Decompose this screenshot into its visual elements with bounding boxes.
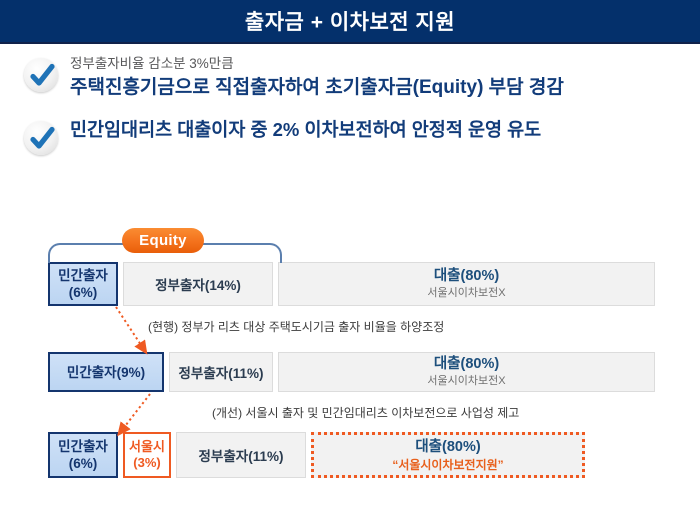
cell-label: 정부출자(11%) bbox=[199, 445, 284, 465]
cell-value: (6%) bbox=[69, 284, 98, 301]
cell-label: 정부출자(14%) bbox=[155, 274, 241, 294]
bullet-text-2: 민간임대리츠 대출이자 중 2% 이차보전하여 안정적 운영 유도 bbox=[62, 115, 541, 143]
cell-label: 서울시 bbox=[129, 439, 165, 455]
cell-loan-supported: 대출(80%) “서울시이차보전지원” bbox=[311, 432, 585, 478]
loan-subtitle: 서울시이차보전X bbox=[427, 374, 505, 389]
cell-government-investment: 정부출자(14%) bbox=[123, 262, 273, 306]
slide-header: 출자금 + 이차보전 지원 bbox=[0, 0, 700, 44]
table-row: 민간출자(9%) 정부출자(11%) 대출(80%) 서울시이차보전X bbox=[48, 352, 660, 392]
cell-seoul-city-investment: 서울시 (3%) bbox=[123, 432, 171, 478]
table-row: 민간출자 (6%) 서울시 (3%) 정부출자(11%) 대출(80%) “서울… bbox=[48, 432, 590, 478]
page-title: 출자금 + 이차보전 지원 bbox=[245, 6, 455, 36]
cell-government-investment: 정부출자(11%) bbox=[176, 432, 306, 478]
check-circle-icon bbox=[22, 119, 62, 159]
cell-private-investment: 민간출자(9%) bbox=[48, 352, 164, 392]
bullet-item-1: 정부출자비율 감소분 3%만큼 주택진흥기금으로 직접출자하여 초기출자금(Eq… bbox=[0, 52, 700, 101]
bullet-item-2: 민간임대리츠 대출이자 중 2% 이차보전하여 안정적 운영 유도 bbox=[0, 115, 700, 159]
cell-value: (6%) bbox=[69, 455, 98, 472]
loan-title: 대출(80%) bbox=[434, 267, 499, 285]
note-improved: (개선) 서울시 출자 및 민간임대리츠 이차보전으로 사업성 제고 bbox=[212, 404, 519, 421]
loan-title: 대출(80%) bbox=[415, 438, 480, 456]
cell-private-investment: 민간출자 (6%) bbox=[48, 432, 118, 478]
loan-title: 대출(80%) bbox=[434, 355, 499, 373]
cell-label: 민간출자 bbox=[58, 438, 108, 455]
loan-subtitle: “서울시이차보전지원” bbox=[392, 457, 503, 473]
note-current: (현행) 정부가 리츠 대상 주택도시기금 출자 비율을 하양조정 bbox=[148, 318, 444, 335]
loan-subtitle: 서울시이차보전X bbox=[427, 286, 505, 301]
cell-label: 민간출자(9%) bbox=[67, 364, 145, 381]
cell-label: 민간출자 bbox=[58, 267, 108, 284]
bullet-text-1: 정부출자비율 감소분 3%만큼 주택진흥기금으로 직접출자하여 초기출자금(Eq… bbox=[62, 52, 564, 101]
cell-private-investment: 민간출자 (6%) bbox=[48, 262, 118, 306]
cell-label: 정부출자(11%) bbox=[179, 362, 264, 382]
bullet-subtext-1: 정부출자비율 감소분 3%만큼 bbox=[70, 54, 564, 74]
check-circle-icon bbox=[22, 56, 62, 96]
cell-value: (3%) bbox=[133, 455, 160, 471]
cell-loan: 대출(80%) 서울시이차보전X bbox=[278, 352, 655, 392]
equity-badge: Equity bbox=[122, 228, 204, 253]
table-row: 민간출자 (6%) 정부출자(14%) 대출(80%) 서울시이차보전X bbox=[48, 262, 660, 306]
cell-loan: 대출(80%) 서울시이차보전X bbox=[278, 262, 655, 306]
arrow-down-right-icon bbox=[116, 307, 143, 348]
bullet-maintext-2: 민간임대리츠 대출이자 중 2% 이차보전하여 안정적 운영 유도 bbox=[70, 117, 541, 143]
arrow-down-left-icon bbox=[122, 394, 150, 430]
bullet-maintext-1: 주택진흥기금으로 직접출자하여 초기출자금(Equity) 부담 경감 bbox=[70, 75, 564, 101]
cell-government-investment: 정부출자(11%) bbox=[169, 352, 273, 392]
bullet-list: 정부출자비율 감소분 3%만큼 주택진흥기금으로 직접출자하여 초기출자금(Eq… bbox=[0, 52, 700, 159]
